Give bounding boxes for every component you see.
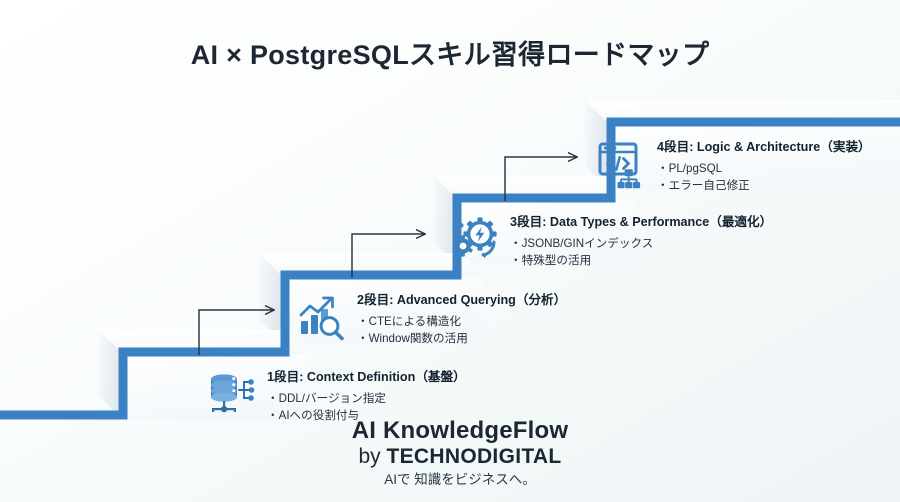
database-network-icon <box>206 368 258 420</box>
step-3-bullet-1: ・JSONB/GINインデックス <box>510 235 772 252</box>
roadmap-step-3: 3段目: Data Types & Performance（最適化） ・JSON… <box>449 213 772 270</box>
step-2-bullet-2: ・Window関数の活用 <box>357 330 566 347</box>
step-4-text: 4段目: Logic & Architecture（実装） ・PL/pgSQL … <box>657 138 871 195</box>
step-2-bullet-1: ・CTEによる構造化 <box>357 313 566 330</box>
bar-chart-magnifier-icon <box>296 291 348 343</box>
roadmap-step-4: 4段目: Logic & Architecture（実装） ・PL/pgSQL … <box>596 138 871 195</box>
step-4-bullet-1: ・PL/pgSQL <box>657 160 871 177</box>
step-1-bullet-1: ・DDL/バージョン指定 <box>267 390 466 407</box>
step-3-heading: 3段目: Data Types & Performance（最適化） <box>510 215 772 231</box>
brand-by-line: by TECHNODIGITAL <box>250 445 670 469</box>
step-4-heading: 4段目: Logic & Architecture（実装） <box>657 140 871 156</box>
step-3-text: 3段目: Data Types & Performance（最適化） ・JSON… <box>510 213 772 270</box>
step-2-text: 2段目: Advanced Querying（分析） ・CTEによる構造化 ・W… <box>357 291 566 348</box>
roadmap-infographic: AI × PostgreSQLスキル習得ロードマップ <box>0 0 900 502</box>
step-1-heading: 1段目: Context Definition（基盤） <box>267 370 466 386</box>
gears-lightning-icon <box>449 213 501 265</box>
brand-company: TECHNODIGITAL <box>387 445 562 468</box>
code-window-sitemap-icon <box>596 138 648 190</box>
roadmap-step-2: 2段目: Advanced Querying（分析） ・CTEによる構造化 ・W… <box>296 291 566 348</box>
page-title: AI × PostgreSQLスキル習得ロードマップ <box>0 33 900 72</box>
step-2-heading: 2段目: Advanced Querying（分析） <box>357 293 566 309</box>
brand-block: AI KnowledgeFlow by TECHNODIGITAL AIで 知識… <box>250 418 670 488</box>
brand-tagline: AIで 知識をビジネスへ。 <box>250 472 670 488</box>
brand-name: AI KnowledgeFlow <box>250 418 670 445</box>
step-4-bullet-2: ・エラー自己修正 <box>657 177 871 194</box>
step-3-bullet-2: ・特殊型の活用 <box>510 252 772 269</box>
brand-by-prefix: by <box>358 445 386 468</box>
